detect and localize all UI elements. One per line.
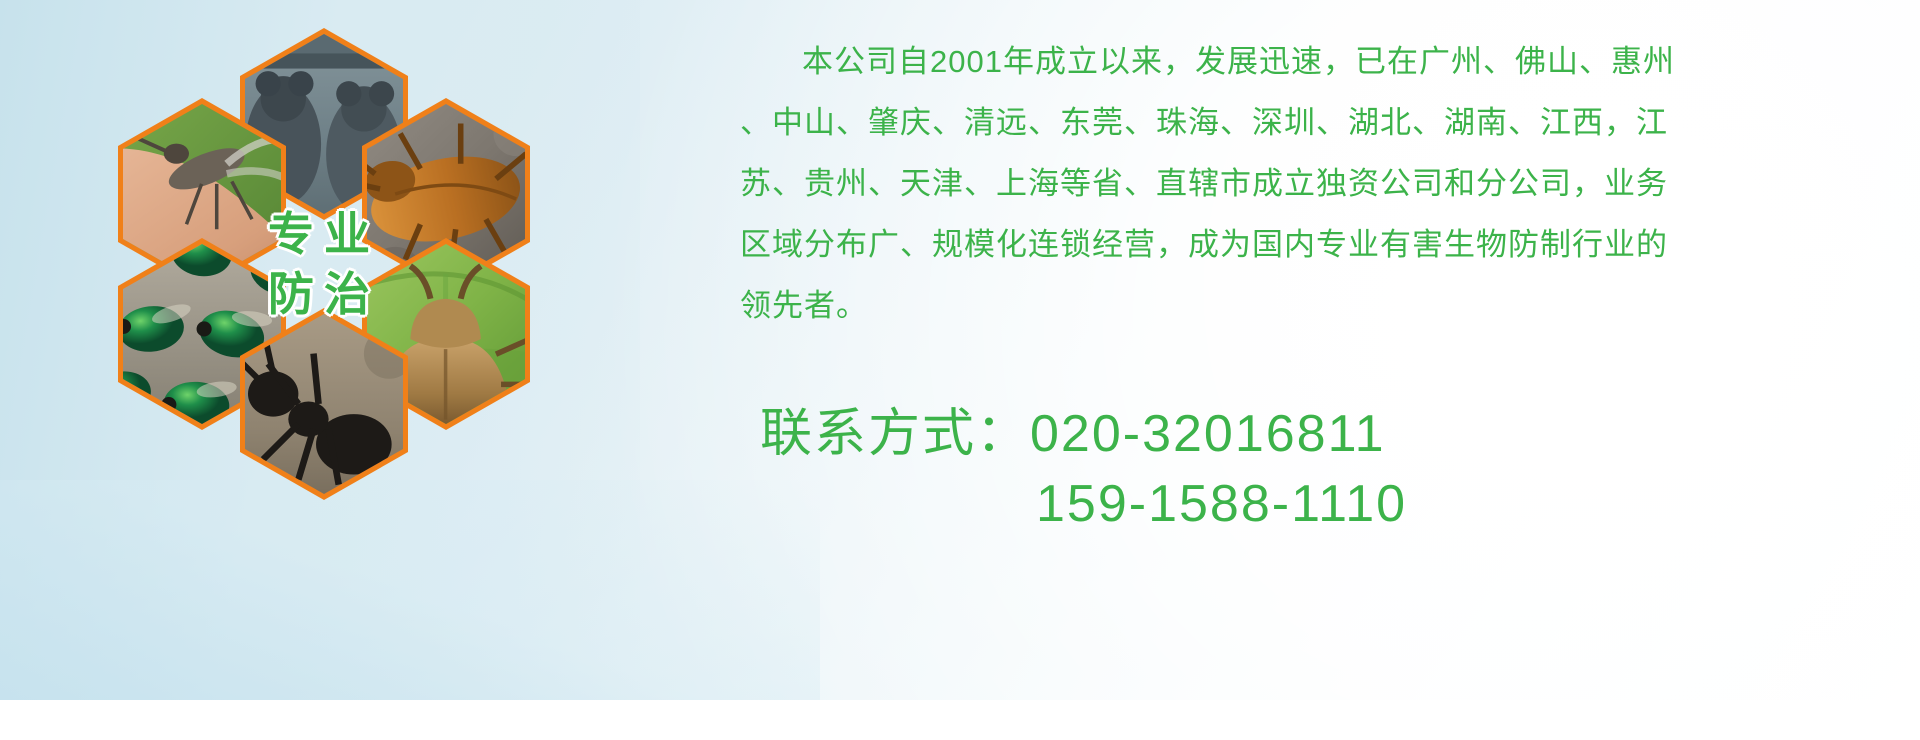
hexagon-center-label-line2: 防治 [268, 271, 380, 317]
contact-phone-primary[interactable]: 联系方式：020-32016811 [760, 400, 1860, 470]
intro-line-4: 区域分布广、规模化连锁经营，成为国内专业有害生物防制行业的 [740, 221, 1880, 268]
hexagon-center-label-line1: 专业 [268, 211, 380, 257]
hexagon-center-label: 专业 防治 [240, 168, 408, 360]
hexagon-photo-cluster: 专业 防治 [90, 10, 590, 570]
intro-line-3: 苏、贵州、天津、上海等省、直辖市成立独资公司和分公司，业务 [740, 160, 1880, 207]
contact-block: 联系方式：020-32016811 159-1588-1110 [760, 400, 1860, 539]
intro-line-2: 、中山、肇庆、清远、东莞、珠海、深圳、湖北、湖南、江西，江 [740, 99, 1880, 146]
company-intro-paragraph: 本公司自2001年成立以来，发展迅速，已在广州、佛山、惠州 、中山、肇庆、清远、… [740, 38, 1880, 344]
promo-banner: 专业 防治 本公司自2001年成立以来，发展迅速，已在广州、佛山、惠州 、中山、… [0, 0, 1920, 700]
intro-line-5: 领先者。 [740, 282, 1880, 329]
contact-phone-secondary[interactable]: 159-1588-1110 [760, 470, 1860, 540]
intro-line-1: 本公司自2001年成立以来，发展迅速，已在广州、佛山、惠州 [740, 38, 1880, 85]
